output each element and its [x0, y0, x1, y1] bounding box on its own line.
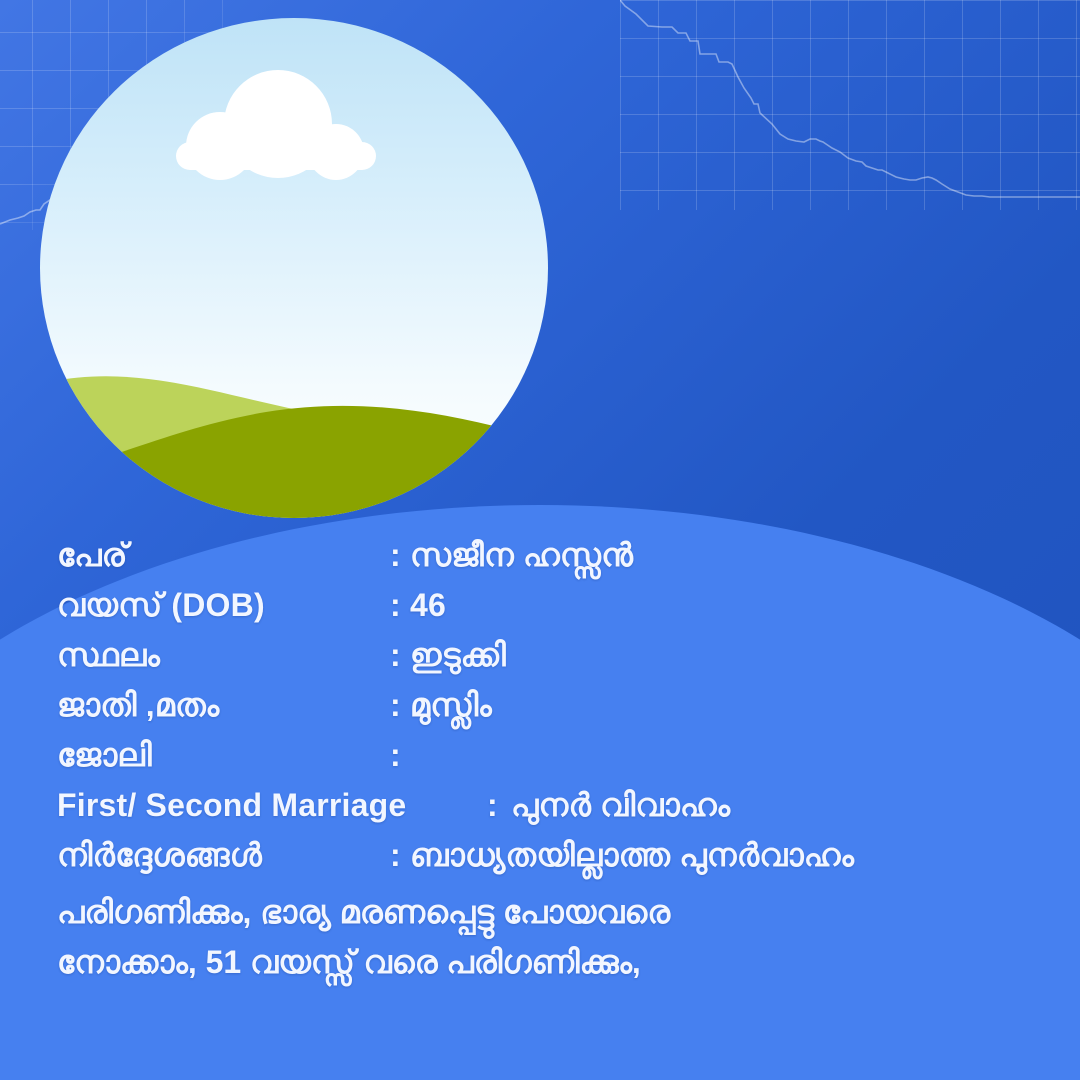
- detail-label-instructions: നിർദ്ദേശങ്ങൾ: [57, 837, 390, 875]
- detail-value-caste-religion: മുസ്ലിം: [410, 687, 492, 725]
- detail-value-name: സജീന ഹസ്സൻ: [410, 537, 633, 575]
- detail-label-name: പേര്: [57, 537, 390, 575]
- detail-separator-place: :: [390, 637, 410, 674]
- detail-separator-job: :: [390, 737, 410, 774]
- detail-label-caste-religion: ജാതി ,മതം: [57, 687, 390, 725]
- detail-label-job: ജോലി: [57, 737, 390, 775]
- detail-separator-age: :: [390, 587, 410, 624]
- detail-separator-instructions: :: [390, 837, 410, 874]
- detail-label-marriage: First/ Second Marriage: [57, 787, 487, 824]
- detail-row-name: പേര് : സജീന ഹസ്സൻ: [57, 537, 1047, 587]
- detail-label-age: വയസ് (DOB): [57, 587, 390, 625]
- detail-row-place: സ്ഥലം : ഇടുക്കി: [57, 637, 1047, 687]
- cloud-icon: [168, 68, 388, 183]
- grid-pattern-top-right: [620, 0, 1080, 210]
- profile-photo: [40, 18, 548, 518]
- detail-separator-caste-religion: :: [390, 687, 410, 724]
- sparkline-descending-icon: [620, 0, 1080, 210]
- detail-row-age: വയസ് (DOB) : 46: [57, 587, 1047, 637]
- detail-row-caste-religion: ജാതി ,മതം : മുസ്ലിം: [57, 687, 1047, 737]
- detail-row-instructions: നിർദ്ദേശങ്ങൾ : ബാധ്യതയില്ലാത്ത പുനർവാഹം: [57, 837, 1047, 887]
- detail-separator-name: :: [390, 537, 410, 574]
- instructions-note-line-2: നോക്കാം, 51 വയസ്സ് വരെ പരിഗണിക്കും,: [57, 937, 1047, 987]
- instructions-note-line-1: പരിഗണിക്കും, ഭാര്യ മരണപ്പെട്ടു പോയവരെ: [57, 887, 1047, 937]
- profile-card: പേര് : സജീന ഹസ്സൻ വയസ് (DOB) : 46 സ്ഥലം …: [0, 0, 1080, 1080]
- detail-value-place: ഇടുക്കി: [410, 637, 506, 675]
- detail-label-place: സ്ഥലം: [57, 637, 390, 675]
- detail-row-marriage: First/ Second Marriage : പുനർ വിവാഹം: [57, 787, 1047, 837]
- detail-row-job: ജോലി :: [57, 737, 1047, 787]
- hill-front-shape: [40, 358, 548, 518]
- profile-details: പേര് : സജീന ഹസ്സൻ വയസ് (DOB) : 46 സ്ഥലം …: [57, 537, 1047, 987]
- detail-value-age: 46: [410, 587, 446, 624]
- detail-separator-marriage: :: [487, 787, 511, 824]
- detail-value-instructions: ബാധ്യതയില്ലാത്ത പുനർവാഹം: [410, 837, 854, 875]
- detail-value-marriage: പുനർ വിവാഹം: [511, 787, 730, 825]
